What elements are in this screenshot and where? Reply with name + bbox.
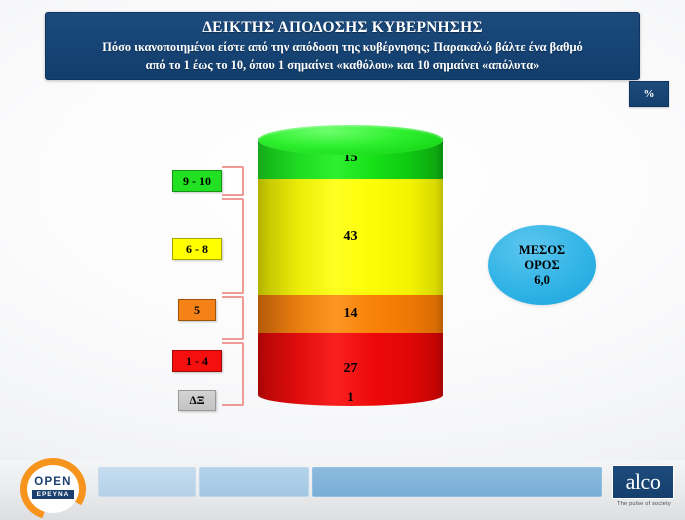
open-research-logo[interactable]: OPEN ΕΡΕΥΝΑ xyxy=(20,458,86,520)
cylinder-top-ellipse xyxy=(258,125,443,155)
legend-box-dk[interactable]: ΔΞ xyxy=(178,390,216,411)
average-value: 6,0 xyxy=(534,273,550,288)
average-label-line1: ΜΕΣΟΣ xyxy=(519,243,565,258)
legend-box-9-10[interactable]: 9 - 10 xyxy=(172,170,222,192)
segment-6-8: 43 xyxy=(258,179,443,295)
alco-tagline: The pulse of society xyxy=(608,501,680,507)
segment-1-4-value: 27 xyxy=(344,361,358,377)
bracket-1-4 xyxy=(222,342,244,406)
bracket-6-8 xyxy=(222,198,244,294)
bracket-9-10 xyxy=(222,166,244,196)
legend-box-6-8[interactable]: 6 - 8 xyxy=(172,238,222,260)
segment-5: 14 xyxy=(258,295,443,333)
footer-accent-bar-1 xyxy=(98,467,196,497)
open-ring-icon xyxy=(20,458,86,520)
stacked-cylinder-chart: 15431427 xyxy=(258,138,443,406)
segment-5-value: 14 xyxy=(344,306,358,322)
page-subtitle-line1: Πόσο ικανοποιημένοι είστε από την απόδοσ… xyxy=(46,38,639,56)
footer-accent-bar-3 xyxy=(312,467,602,497)
page-title: ΔΕΙΚΤΗΣ ΑΠΟΔΟΣΗΣ ΚΥΒΕΡΝΗΣΗΣ xyxy=(46,18,639,38)
average-bubble: ΜΕΣΟΣ ΟΡΟΣ 6,0 xyxy=(488,225,596,305)
page-subtitle-line2: από το 1 έως το 10, όπου 1 σημαίνει «καθ… xyxy=(46,56,639,74)
alco-logo[interactable]: alco xyxy=(612,465,674,499)
segment-value-dk: 1 xyxy=(258,390,443,405)
percent-unit-badge: % xyxy=(629,81,669,107)
footer-accent-bar-2 xyxy=(199,467,309,497)
bracket-5 xyxy=(222,296,244,340)
header-banner: ΔΕΙΚΤΗΣ ΑΠΟΔΟΣΗΣ ΚΥΒΕΡΝΗΣΗΣ Πόσο ικανοπο… xyxy=(45,12,640,80)
legend-box-1-4[interactable]: 1 - 4 xyxy=(172,350,222,372)
slide-canvas: ΔΕΙΚΤΗΣ ΑΠΟΔΟΣΗΣ ΚΥΒΕΡΝΗΣΗΣ Πόσο ικανοπο… xyxy=(0,0,685,520)
average-label-line2: ΟΡΟΣ xyxy=(524,258,559,273)
segment-6-8-value: 43 xyxy=(344,229,358,245)
cylinder-body: 15431427 xyxy=(258,138,443,406)
open-logo-subtext: ΕΡΕΥΝΑ xyxy=(32,490,74,499)
open-logo-text: OPEN xyxy=(20,476,86,488)
legend-box-5[interactable]: 5 xyxy=(178,299,216,321)
